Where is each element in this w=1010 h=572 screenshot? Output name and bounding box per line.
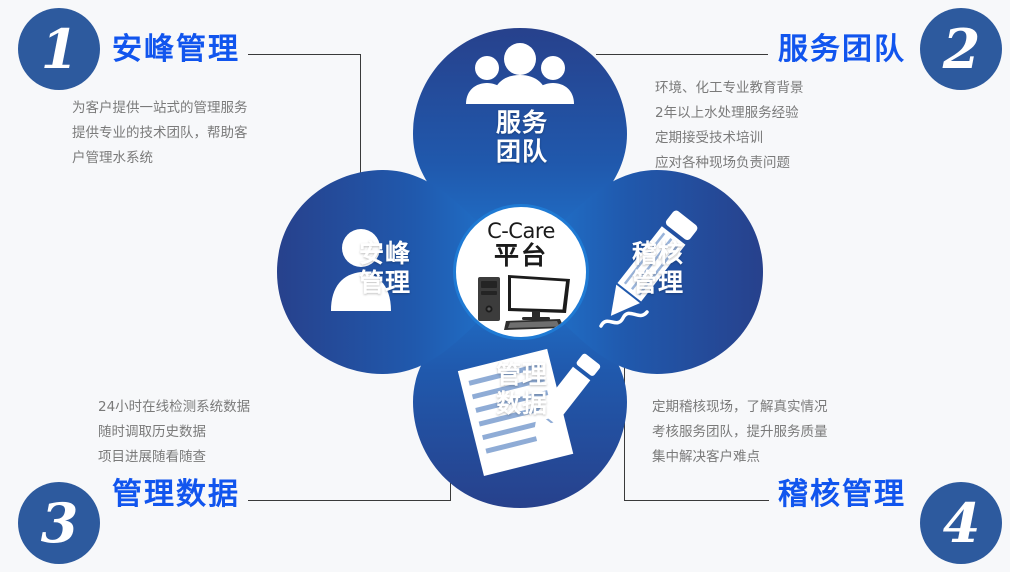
petal-label-top-line1: 服务: [487, 108, 557, 137]
desktop-computer-icon: [474, 273, 574, 331]
body-line: 项目进展随看随查: [98, 445, 250, 470]
four-petal-flower-diagram: 服务 团队 安峰 管理 稽核 管理 管理 数据 C-Care 平台: [255, 8, 785, 528]
quadrant-heading-1: 安峰管理: [112, 24, 240, 68]
quadrant-heading-3: 管理数据: [112, 469, 240, 513]
petal-label-bottom: 管理 数据: [487, 360, 557, 418]
petal-label-left: 安峰 管理: [350, 239, 420, 297]
number-badge-1: 1: [18, 8, 100, 90]
body-line: 24小时在线检测系统数据: [98, 395, 250, 420]
petal-label-right: 稽核 管理: [623, 239, 693, 297]
body-line: 户管理水系统: [72, 146, 248, 171]
quadrant-body-3: 24小时在线检测系统数据随时调取历史数据项目进展随看随查: [98, 395, 250, 470]
petal-label-right-line1: 稽核: [623, 239, 693, 268]
body-line: 为客户提供一站式的管理服务: [72, 96, 248, 121]
petal-label-right-line2: 管理: [623, 268, 693, 297]
petal-label-bottom-line2: 数据: [487, 389, 557, 418]
quadrant-body-1: 为客户提供一站式的管理服务提供专业的技术团队，帮助客户管理水系统: [72, 96, 248, 171]
number-badge-3: 3: [18, 482, 100, 564]
petal-label-top-line2: 团队: [487, 137, 557, 166]
center-hub-subtitle: 平台: [456, 242, 586, 270]
number-badge-4: 4: [920, 482, 1002, 564]
quadrant-heading-2: 服务团队: [778, 24, 906, 68]
petal-label-left-line2: 管理: [350, 268, 420, 297]
number-badge-2: 2: [920, 8, 1002, 90]
petal-label-bottom-line1: 管理: [487, 360, 557, 389]
petal-label-left-line1: 安峰: [350, 239, 420, 268]
center-hub[interactable]: C-Care 平台: [453, 204, 589, 340]
quadrant-heading-4: 稽核管理: [778, 469, 906, 513]
body-line: 随时调取历史数据: [98, 420, 250, 445]
body-line: 提供专业的技术团队，帮助客: [72, 121, 248, 146]
petal-label-top: 服务 团队: [487, 108, 557, 166]
center-hub-title: C-Care: [456, 219, 586, 243]
infographic-canvas: 1 2 3 4 安峰管理 服务团队 管理数据 稽核管理 为客户提供一站式的管理服…: [0, 0, 1010, 572]
